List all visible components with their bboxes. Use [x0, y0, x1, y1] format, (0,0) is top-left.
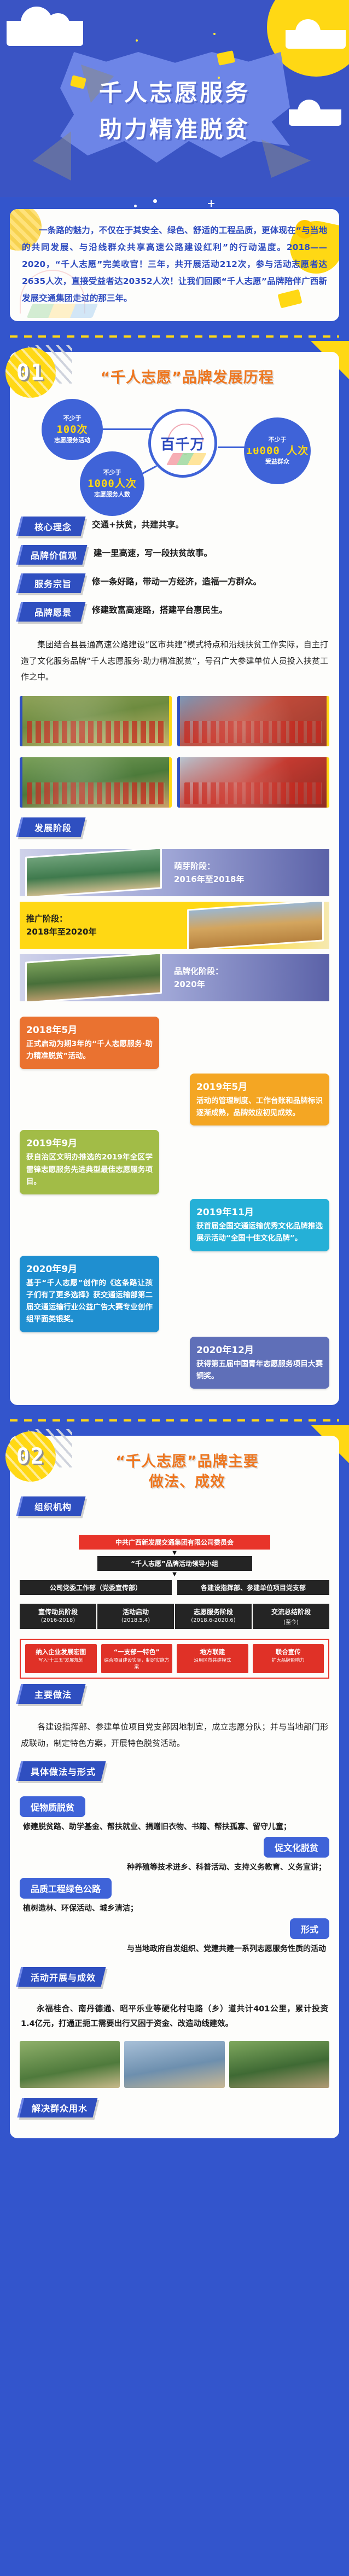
- org-phase-name: 志愿服务阶段: [194, 1608, 233, 1616]
- forms-tag-label: 具体做法与形式: [31, 1765, 96, 1778]
- org-measures-row: 纳入企业发展宏图 写入“十三五”发展规划 “一支部一特色” 综合项目建设实际，制…: [20, 1639, 329, 1679]
- cloud-icon-left: [7, 21, 83, 46]
- org-tag: 组织机构: [19, 1496, 330, 1516]
- photo-volunteer-field: [20, 696, 172, 746]
- photo-hillside-walk: [20, 757, 172, 808]
- rainbow-road-icon: [166, 453, 207, 465]
- org-chart: 中共广西新发展交通集团有限公司委员会 ▼ “千人志愿”品牌活动领导小组 ▼ 公司…: [10, 1528, 339, 1682]
- measure-title: 联合宣传: [255, 1647, 322, 1656]
- main-practice-paragraph: 各建设指挥部、参建单位项目党支部因地制宜，成立志愿分队；并与当地部门形成联动，制…: [10, 1716, 339, 1759]
- attribute-row: 服务宗旨 修一条好路，带动一方经济，造福一方群众。: [19, 573, 330, 593]
- spacer: [10, 1397, 339, 1405]
- photo-grid-row1: [10, 693, 339, 754]
- timeline-date: 2019年11月: [196, 1204, 323, 1218]
- form-pill: 促文化脱贫: [264, 1837, 329, 1858]
- stages-tag-row: 发展阶段: [10, 815, 339, 849]
- form-desc: 种养殖等技术进乡、科普活动、支持义务教育、义务宣讲；: [20, 1858, 329, 1875]
- forms-tag-row: 具体做法与形式: [10, 1759, 339, 1793]
- connector-line-2: [218, 446, 257, 448]
- form-desc: 植树造林、环保活动、城乡清洁；: [20, 1899, 329, 1916]
- photo-team-kneel: [177, 757, 329, 808]
- solve-water-tag: 解决群众用水: [20, 2098, 329, 2117]
- stages-tag-box: 发展阶段: [16, 817, 86, 837]
- main-practice-tag-row: 主要做法: [10, 1682, 339, 1716]
- star-band-1: [0, 197, 349, 209]
- activity-tag: 活动开展与成效: [19, 1967, 330, 1987]
- measure-sub: 扩大品牌影响力: [255, 1657, 322, 1663]
- form-pill: 品质工程绿色公路: [20, 1878, 112, 1899]
- timeline-desc: 正式启动为期3年的“千人志愿服务·助力精准脱贫”活动。: [26, 1038, 153, 1063]
- timeline-card-2020-09: 2020年9月 基于“千人志愿”创作的《这条路让孩子们有了更多选择》获交通运输部…: [20, 1256, 159, 1332]
- timeline-date: 2018年5月: [26, 1022, 153, 1036]
- connector-line-1: [97, 428, 152, 430]
- photo-mountain-road: [229, 2041, 329, 2088]
- cloud-icon-right: [286, 30, 346, 49]
- stage-row-brand: 品牌化阶段： 2020年: [20, 954, 329, 1001]
- photo-grid-row2: [10, 754, 339, 815]
- attribute-tag-label: 品牌愿景: [34, 605, 72, 618]
- brand-attribute-rows: 核心理念 交通+扶贫，共建共享。 品牌价值观 建一里高速，写一段扶贫故事。 服务…: [10, 514, 339, 634]
- stage-period: 2016年至2018年: [174, 873, 323, 886]
- section-02-title-line2: 做法、成效: [35, 1472, 339, 1492]
- dashed-road-divider-2: [10, 1419, 339, 1422]
- org-phase-row: 宣传动员阶段 (2016-2018) 活动启动 (2018.5.4) 志愿服务阶…: [20, 1604, 329, 1629]
- hero-title-line1: 千人志愿服务: [0, 77, 349, 110]
- stage-name: 推广阶段：: [26, 912, 175, 925]
- photo-figures: [27, 782, 165, 804]
- photo-figures: [184, 721, 322, 743]
- dashed-road-divider-1: [10, 335, 339, 338]
- attribute-tag: 核心理念: [16, 517, 86, 536]
- bubble-value: 1000人次: [88, 478, 137, 490]
- timeline-date: 2019年9月: [26, 1135, 153, 1149]
- org-phase-period: (2018.6-2020.6): [177, 1617, 249, 1623]
- main-practice-tag-box: 主要做法: [16, 1684, 86, 1704]
- section-02-number: 02: [16, 1444, 45, 1469]
- timeline-date: 2020年12月: [196, 1342, 323, 1356]
- stage-row-promote: 推广阶段： 2018年至2020年: [20, 902, 329, 949]
- form-desc: 修建脱贫路、助学基金、帮扶就业、捐赠旧衣物、书籍、帮扶孤寡、留守儿童；: [20, 1817, 329, 1834]
- photo-figures: [27, 721, 165, 743]
- intro-paragraph: 一条路的魅力，不仅在于其安全、绿色、舒适的工程品质，更体现在“与当地的共同发展、…: [22, 222, 327, 307]
- org-node-party-committee: 中共广西新发展交通集团有限公司委员会: [79, 1535, 271, 1550]
- infographic-page: 千人志愿服务 助力精准脱贫 一条路的魅力，不仅在于其安全、绿色、舒适的工程品质，…: [0, 0, 349, 2146]
- hero-title-line2: 助力精准脱贫: [0, 113, 349, 147]
- star-dot-2: [153, 199, 157, 203]
- org-node-propaganda-dept: 公司党委工作部（党委宣传部）: [20, 1580, 172, 1595]
- form-item-material: 促物质脱贫 修建脱贫路、助学基金、帮扶就业、捐赠旧衣物、书籍、帮扶孤寡、留守儿童…: [20, 1796, 329, 1834]
- timeline-row: 2019年5月 活动的管理制度、工作台账和品牌标识逐渐成熟，品牌效应初见成效。: [20, 1074, 329, 1126]
- stage-text-brand: 品牌化阶段： 2020年: [167, 965, 329, 991]
- org-node-project-branches: 各建设指挥部、参建单位项目党支部: [177, 1580, 329, 1595]
- org-phase-name: 交流总结阶段: [271, 1608, 311, 1616]
- org-phase-name: 宣传动员阶段: [38, 1608, 78, 1616]
- bubble-value: 100次: [56, 423, 88, 436]
- attribute-tag: 服务宗旨: [16, 573, 86, 593]
- org-tag-row: 组织机构: [10, 1494, 339, 1528]
- stage-photo-promote: [187, 902, 324, 949]
- stage-photo-sprout: [25, 849, 162, 896]
- org-measure-branch-feature: “一支部一特色” 综合项目建设实际，制定实施方案: [101, 1644, 173, 1673]
- form-pill: 促物质脱贫: [20, 1796, 85, 1817]
- timeline-card-2019-09: 2019年9月 获自治区文明办推选的2019年全区学雷锋志愿服务先进典型最佳志愿…: [20, 1130, 159, 1194]
- org-arrow-down-1: ▼: [20, 1550, 329, 1556]
- attribute-row: 品牌价值观 建一里高速，写一段扶贫故事。: [19, 545, 330, 565]
- stages-tag-label: 发展阶段: [34, 821, 72, 834]
- attribute-row: 核心理念 交通+扶贫，共建共享。: [19, 517, 330, 536]
- timeline-row: 2019年9月 获自治区文明办推选的2019年全区学雷锋志愿服务先进典型最佳志愿…: [20, 1130, 329, 1194]
- bubble-suffix: 志愿服务活动: [54, 437, 90, 444]
- org-measure-enterprise-plan: 纳入企业发展宏图 写入“十三五”发展规划: [25, 1644, 97, 1673]
- section-02-badge: 02: [5, 1431, 56, 1482]
- forms-flow: 促物质脱贫 修建脱贫路、助学基金、帮扶就业、捐赠旧衣物、书籍、帮扶孤寡、留守儿童…: [10, 1793, 339, 1965]
- measure-title: “一支部一特色”: [103, 1647, 171, 1656]
- org-node-leading-group: “千人志愿”品牌活动领导小组: [97, 1556, 252, 1571]
- attribute-tag-label: 服务宗旨: [34, 577, 72, 590]
- bubble-beneficiaries: 不少于 10000 人次 受益群众: [244, 417, 311, 484]
- plus-icon-h: [208, 203, 214, 204]
- bubble-prefix: 不少于: [63, 415, 82, 422]
- timeline-row: 2020年9月 基于“千人志愿”创作的《这条路让孩子们有了更多选择》获交通运输部…: [20, 1256, 329, 1332]
- timeline-desc: 获首届全国交通运输优秀文化品牌推选展示活动“全国十佳文化品牌”。: [196, 1220, 323, 1245]
- attribute-text: 修一条好路，带动一方经济，造福一方群众。: [83, 573, 330, 588]
- main-practice-tag: 主要做法: [19, 1684, 330, 1704]
- attribute-text: 交通+扶贫，共建共享。: [83, 517, 330, 531]
- forms-tag: 具体做法与形式: [19, 1761, 330, 1781]
- bubble-prefix: 不少于: [103, 469, 121, 477]
- timeline-date: 2020年9月: [26, 1261, 153, 1275]
- attribute-tag: 品牌价值观: [16, 545, 88, 565]
- measure-title: 地方联建: [179, 1647, 246, 1656]
- measure-title: 纳入企业发展宏图: [27, 1647, 95, 1656]
- solve-water-tag-label: 解决群众用水: [32, 2101, 88, 2114]
- form-item-green-road: 品质工程绿色公路 植树造林、环保活动、城乡清洁；: [20, 1878, 329, 1916]
- timeline-desc: 获自治区文明办推选的2019年全区学雷锋志愿服务先进典型最佳志愿服务项目。: [26, 1151, 153, 1188]
- photo-figures: [184, 782, 322, 804]
- form-pill: 形式: [290, 1918, 329, 1939]
- bubble-suffix: 受益群众: [265, 459, 289, 466]
- activity-photo-row: [10, 2039, 339, 2097]
- stage-period: 2018年至2020年: [26, 925, 175, 938]
- org-level-three: 公司党委工作部（党委宣传部） 各建设指挥部、参建单位项目党支部: [20, 1580, 329, 1595]
- hero-banner: 千人志愿服务 助力精准脱贫: [0, 0, 349, 197]
- org-phase-service: 志愿服务阶段 (2018.6-2020.6): [175, 1604, 253, 1629]
- center-logo-circle: 百千万: [148, 409, 217, 478]
- activity-tag-label: 活动开展与成效: [31, 1970, 96, 1983]
- section-01-card: “千人志愿”品牌发展历程 不少于 100次 志愿服务活动 百千万 不少于: [10, 352, 339, 1405]
- stage-text-promote: 推广阶段： 2018年至2020年: [20, 912, 182, 938]
- org-phase-launch: 活动启动 (2018.5.4): [97, 1604, 175, 1629]
- milestone-timeline: 2018年5月 正式启动为期3年的“千人志愿服务·助力精准脱贫”活动。 2019…: [10, 1007, 339, 1397]
- timeline-card-2020-12: 2020年12月 获得第五届中国青年志愿服务项目大赛铜奖。: [190, 1337, 329, 1389]
- star-dot-1: [134, 205, 137, 207]
- activity-tag-box: 活动开展与成效: [16, 1967, 106, 1987]
- solve-water-tag-row: 解决群众用水: [10, 2097, 339, 2138]
- baiqianwan-diagram: 不少于 100次 志愿服务活动 百千万 不少于 10000 人次 受益群众 不少…: [10, 394, 339, 512]
- stage-text-sprout: 萌芽阶段： 2016年至2018年: [167, 860, 329, 886]
- form-item-culture: 促文化脱贫 种养殖等技术进乡、科普活动、支持义务教育、义务宣讲；: [20, 1837, 329, 1875]
- stage-period: 2020年: [174, 978, 323, 991]
- attribute-tag: 品牌愿景: [16, 602, 86, 622]
- section-01-number: 01: [16, 360, 45, 385]
- hero-title: 千人志愿服务 助力精准脱贫: [0, 77, 349, 147]
- intro-card: 一条路的魅力，不仅在于其安全、绿色、舒适的工程品质，更体现在“与当地的共同发展、…: [10, 209, 339, 321]
- photo-group-banner: [177, 696, 329, 746]
- bubble-activities: 不少于 100次 志愿服务活动: [42, 399, 103, 460]
- center-label: 百千万: [160, 433, 205, 454]
- org-tag-box: 组织机构: [16, 1496, 86, 1516]
- section-01-badge: 01: [5, 347, 56, 398]
- org-measure-joint-promo: 联合宣传 扩大品牌影响力: [253, 1644, 324, 1673]
- org-tag-label: 组织机构: [34, 1500, 72, 1513]
- org-phase-period: (2016-2018): [22, 1617, 94, 1623]
- bubble-suffix: 志愿服务人数: [94, 491, 130, 498]
- stage-name: 萌芽阶段：: [174, 860, 323, 873]
- timeline-desc: 获得第五届中国青年志愿服务项目大赛铜奖。: [196, 1358, 323, 1383]
- section-01-paragraph: 集团结合县县通高速公路建设“区市共建”模式特点和沿线扶贫工作实际，自主打造了文化…: [10, 634, 339, 693]
- sparkle-dot-1: [136, 39, 138, 42]
- attribute-tag-label: 品牌价值观: [31, 548, 77, 561]
- attribute-text: 建一里高速，写一段扶贫故事。: [85, 545, 330, 560]
- timeline-row: 2018年5月 正式启动为期3年的“千人志愿服务·助力精准脱贫”活动。: [20, 1017, 329, 1069]
- timeline-row: 2020年12月 获得第五届中国青年志愿服务项目大赛铜奖。: [20, 1337, 329, 1389]
- section-02-card: “千人志愿”品牌主要 做法、成效 组织机构 中共广西新发展交通集团有限公司委员会…: [10, 1436, 339, 2138]
- sparkle-dot-2: [213, 33, 216, 35]
- section-02-wrapper: 02 “千人志愿”品牌主要 做法、成效 组织机构 中共广西新发展交通集团有限公司…: [0, 1419, 349, 2138]
- org-measure-local-joint: 地方联建 沿用区市共建模式: [177, 1644, 248, 1673]
- bubble-volunteers: 不少于 1000人次 志愿服务人数: [80, 451, 144, 516]
- org-arrow-down-2: ▼: [20, 1571, 329, 1577]
- attribute-row: 品牌愿景 修建致富高速路，搭建平台惠民生。: [19, 602, 330, 622]
- stage-row-sprout: 萌芽阶段： 2016年至2018年: [20, 849, 329, 896]
- solve-water-tag-box: 解决群众用水: [18, 2098, 98, 2117]
- org-phase-period: (至今): [255, 1617, 327, 1626]
- form-item-forms: 形式 与当地政府自发组织、党建共建一系列志愿服务性质的活动: [20, 1918, 329, 1956]
- timeline-date: 2019年5月: [196, 1079, 323, 1093]
- org-phase-name: 活动启动: [123, 1608, 149, 1616]
- attribute-text: 修建致富高速路，搭建平台惠民生。: [83, 602, 330, 617]
- measure-sub: 沿用区市共建模式: [179, 1657, 246, 1663]
- org-phase-mobilize: 宣传动员阶段 (2016-2018): [20, 1604, 97, 1629]
- attribute-tag-label: 核心理念: [34, 520, 72, 533]
- timeline-card-2019-11: 2019年11月 获首届全国交通运输优秀文化品牌推选展示活动“全国十佳文化品牌”…: [190, 1199, 329, 1251]
- forms-tag-box: 具体做法与形式: [16, 1761, 106, 1781]
- stages-tag: 发展阶段: [19, 817, 330, 837]
- photo-road-construction: [20, 2041, 120, 2088]
- timeline-row: 2019年11月 获首届全国交通运输优秀文化品牌推选展示活动“全国十佳文化品牌”…: [20, 1199, 329, 1251]
- org-phase-period: (2018.5.4): [100, 1617, 172, 1623]
- activity-tag-row: 活动开展与成效: [10, 1965, 339, 1999]
- main-practice-tag-label: 主要做法: [34, 1687, 72, 1701]
- timeline-desc: 活动的管理制度、工作台账和品牌标识逐渐成熟，品牌效应初见成效。: [196, 1095, 323, 1119]
- stage-name: 品牌化阶段：: [174, 965, 323, 978]
- bottom-spacer: [0, 2138, 349, 2146]
- section-01-wrapper: 01 “千人志愿”品牌发展历程 不少于 100次 志愿服务活动 百千万: [0, 335, 349, 1405]
- measure-sub: 写入“十三五”发展规划: [27, 1657, 95, 1663]
- org-phase-summary: 交流总结阶段 (至今): [253, 1604, 329, 1629]
- section-02-title-line1: “千人志愿”品牌主要: [35, 1452, 339, 1472]
- timeline-card-2019-05: 2019年5月 活动的管理制度、工作台账和品牌标识逐渐成熟，品牌效应初见成效。: [190, 1074, 329, 1126]
- measure-sub: 综合项目建设实际，制定实施方案: [103, 1657, 171, 1670]
- form-desc: 与当地政府自发组织、党建共建一系列志愿服务性质的活动: [20, 1939, 329, 1956]
- timeline-desc: 基于“千人志愿”创作的《这条路让孩子们有了更多选择》获交通运输部第二届交通运输行…: [26, 1277, 153, 1326]
- activity-paragraph: 永福桂合、南丹德通、昭平乐业等硬化村屯路（乡）道共计401公里，累计投资1.4亿…: [10, 1999, 339, 2039]
- bubble-prefix: 不少于: [269, 437, 287, 444]
- stage-photo-brand: [25, 954, 162, 1001]
- photo-village-road: [124, 2041, 224, 2088]
- timeline-card-2018-05: 2018年5月 正式启动为期3年的“千人志愿服务·助力精准脱贫”活动。: [20, 1017, 159, 1069]
